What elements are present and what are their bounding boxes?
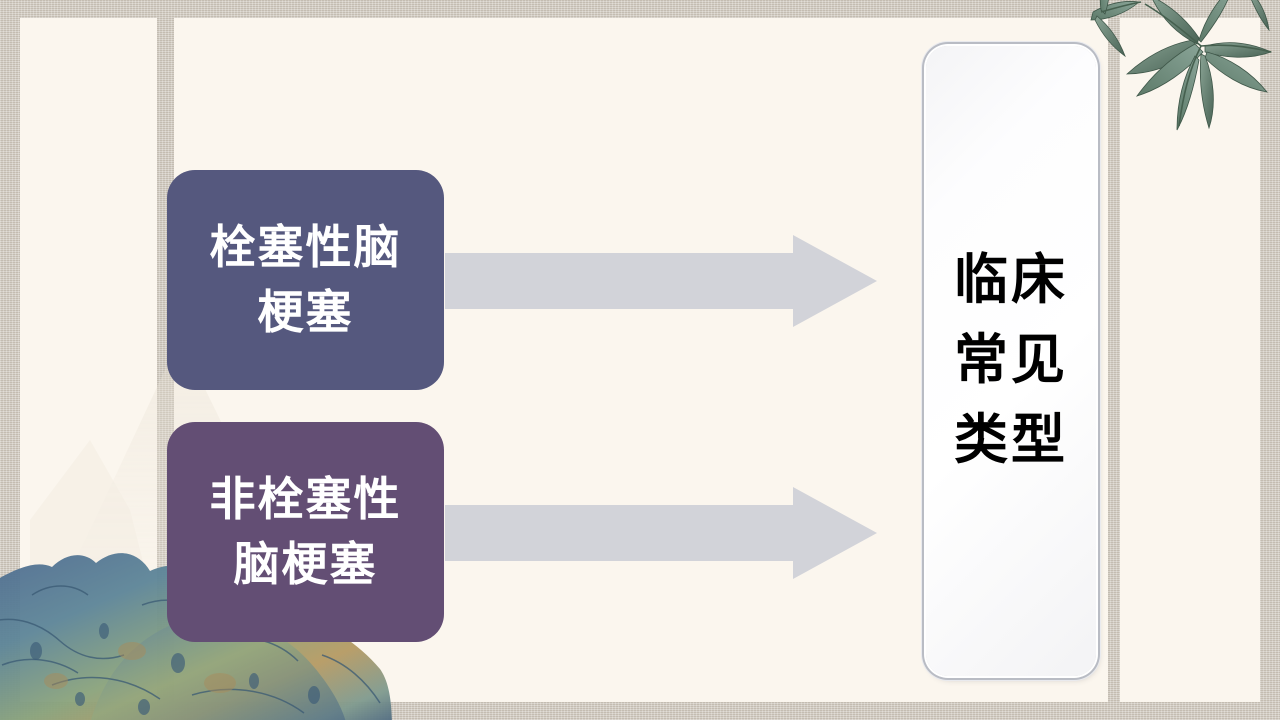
result-line-2: 常见 [954,321,1068,401]
concept-box-nonembolic-line-2: 脑梗塞 [234,532,378,597]
flow-arrow-right-top [445,235,877,327]
right-cream-panel [1120,18,1260,702]
concept-box-nonembolic[interactable]: 非栓塞性 脑梗塞 [167,422,444,642]
concept-box-embolic-line-2: 梗塞 [258,280,354,345]
concept-box-embolic[interactable]: 栓塞性脑 梗塞 [167,170,444,390]
result-line-3: 类型 [954,401,1068,481]
result-panel-clinical-types[interactable]: 临床 常见 类型 [926,46,1096,676]
concept-box-nonembolic-line-1: 非栓塞性 [210,467,402,532]
slide-canvas: 栓塞性脑 梗塞 非栓塞性 脑梗塞 临床 常见 类型 [0,0,1280,720]
result-line-1: 临床 [954,241,1068,321]
flow-arrow-right-bottom [445,487,877,579]
left-cream-panel [20,18,157,702]
concept-box-embolic-line-1: 栓塞性脑 [210,215,402,280]
